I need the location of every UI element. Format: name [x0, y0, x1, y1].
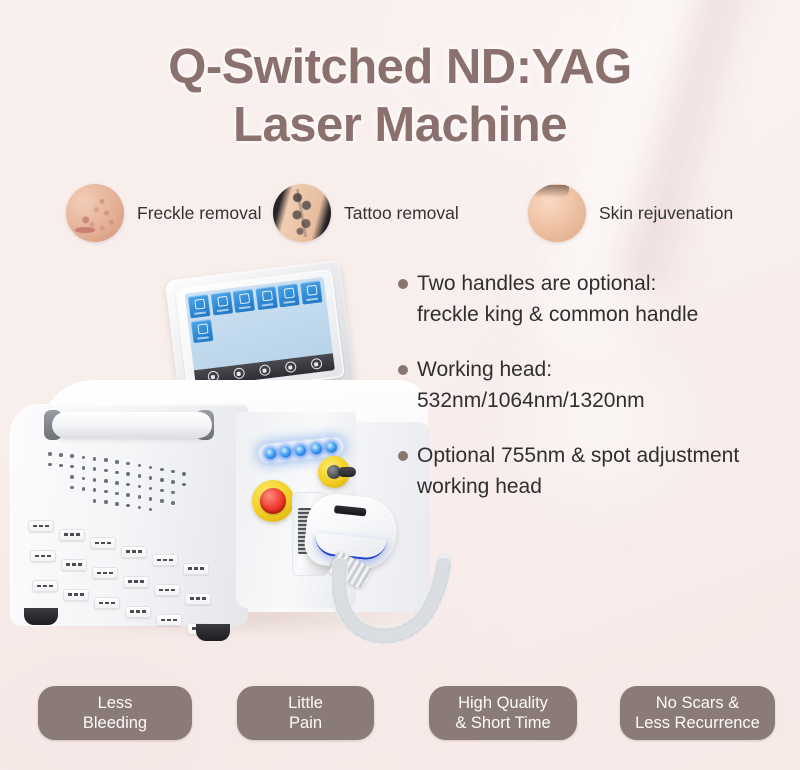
benefit-line-1: Less: [98, 693, 133, 713]
emergency-stop-ring: [252, 480, 294, 522]
application-item-tattoo[interactable]: Tattoo removal: [273, 184, 459, 242]
vent-hole: [93, 488, 97, 492]
vent-hole: [171, 470, 175, 474]
volume-icon[interactable]: [233, 367, 245, 379]
bullet-dot-icon: [398, 365, 408, 375]
application-item-rejuvenation[interactable]: Skin rejuvenation: [528, 184, 733, 242]
vent-slot: [61, 559, 87, 571]
vent-hole: [138, 495, 142, 499]
vent-hole: [115, 502, 119, 506]
vent-hole: [48, 463, 52, 467]
vent-hole: [104, 469, 108, 473]
vent-hole: [126, 483, 130, 487]
machine-foot-left: [24, 608, 58, 625]
vent-hole: [59, 464, 63, 468]
vent-slot: [125, 606, 151, 618]
title-line-2: Laser Machine: [0, 96, 800, 154]
vent-hole: [171, 501, 175, 505]
handpiece-emitter-slot: [334, 505, 367, 516]
vent-hole: [59, 453, 63, 457]
feature-text-working-head: Working head: 532nm/1064nm/1320nm: [417, 354, 798, 416]
vent-hole: [126, 504, 130, 508]
vent-hole: [160, 468, 164, 472]
vent-hole: [104, 479, 108, 483]
vent-hole: [182, 483, 186, 487]
feature-line-2: freckle king & common handle: [417, 299, 798, 330]
application-icon-row: Freckle removal Tattoo removal Skin reju…: [0, 180, 800, 250]
benefit-line-2: Pain: [289, 713, 322, 733]
emergency-stop-button[interactable]: [260, 488, 286, 514]
feature-line-1: Optional 755nm & spot adjustment: [417, 444, 739, 467]
vent-hole: [149, 487, 153, 491]
feature-item-working-head: Working head: 532nm/1064nm/1320nm: [398, 354, 798, 416]
gallery-icon[interactable]: [284, 361, 296, 373]
vent-slot: [63, 589, 89, 601]
benefit-badge-row: Less Bleeding Little Pain High Quality &…: [0, 686, 800, 748]
benefit-line-1: No Scars &: [656, 693, 739, 713]
vent-hole: [149, 497, 153, 501]
application-item-freckle[interactable]: Freckle removal: [66, 184, 261, 242]
vent-hole: [104, 500, 108, 504]
vent-hole: [48, 452, 52, 456]
handpiece-cable: [332, 552, 462, 644]
language-icon[interactable]: [258, 364, 270, 376]
ventilation-dot-pattern: [48, 448, 198, 510]
freckle-removal-photo-icon: [66, 184, 124, 242]
vent-hole: [126, 493, 130, 497]
vent-slot: [94, 597, 120, 609]
title-line-1: Q-Switched ND:YAG: [0, 38, 800, 96]
vent-hole: [160, 499, 164, 503]
feature-text-optional-755nm: Optional 755nm & spot adjustment working…: [417, 440, 798, 502]
vent-hole: [70, 475, 74, 479]
marketing-banner: Q-Switched ND:YAG Laser Machine Freckle …: [0, 0, 800, 770]
screen-app-tile[interactable]: [210, 291, 233, 315]
vent-hole: [70, 454, 74, 458]
vent-slot: [30, 550, 56, 562]
vent-hole: [93, 478, 97, 482]
application-label-rejuvenation: Skin rejuvenation: [599, 203, 733, 224]
vent-slot: [90, 537, 116, 549]
vent-hole: [93, 467, 97, 471]
gear-icon[interactable]: [310, 358, 322, 370]
vent-slot: [32, 580, 58, 592]
vent-hole: [138, 474, 142, 478]
vent-slot: [156, 614, 182, 626]
feature-line-2: 532nm/1064nm/1320nm: [417, 385, 798, 416]
led-light: [325, 441, 337, 453]
carry-handle[interactable]: [52, 412, 212, 438]
ventilation-slot-grid: [28, 520, 220, 616]
application-label-freckle: Freckle removal: [137, 203, 261, 224]
led-light: [280, 446, 292, 458]
vent-hole: [138, 485, 142, 489]
vent-hole: [82, 487, 86, 491]
feature-line-1: Working head:: [417, 358, 552, 381]
vent-hole: [82, 466, 86, 470]
screen-app-tile[interactable]: [255, 286, 278, 310]
benefit-line-1: Little: [288, 693, 323, 713]
screen-app-tile[interactable]: [300, 280, 323, 304]
vent-slot: [121, 546, 147, 558]
vent-slot: [183, 563, 209, 575]
vent-hole: [149, 476, 153, 480]
application-label-tattoo: Tattoo removal: [344, 203, 459, 224]
vent-hole: [149, 466, 153, 470]
vent-hole: [115, 471, 119, 475]
benefit-badge-no-scars[interactable]: No Scars & Less Recurrence: [620, 686, 775, 740]
benefit-badge-less-bleeding[interactable]: Less Bleeding: [38, 686, 192, 740]
feature-item-handles: Two handles are optional: freckle king &…: [398, 268, 798, 330]
vent-hole: [104, 458, 108, 462]
vent-hole: [82, 456, 86, 460]
screen-app-tile[interactable]: [188, 294, 211, 318]
vent-hole: [115, 460, 119, 464]
feature-item-optional-755nm: Optional 755nm & spot adjustment working…: [398, 440, 798, 502]
vent-hole: [104, 490, 108, 494]
machine-foot-front: [196, 624, 230, 641]
vent-hole: [171, 491, 175, 495]
vent-slot: [154, 584, 180, 596]
vent-hole: [160, 478, 164, 482]
feature-line-1: Two handles are optional:: [417, 272, 656, 295]
key-switch[interactable]: [327, 465, 341, 479]
touchscreen-display[interactable]: [185, 277, 335, 387]
vent-slot: [59, 529, 85, 541]
vent-hole: [70, 486, 74, 490]
key-switch-ring: [318, 456, 350, 488]
vent-hole: [82, 477, 86, 481]
led-light: [310, 442, 322, 454]
vent-hole: [126, 462, 130, 466]
page-title: Q-Switched ND:YAG Laser Machine: [0, 38, 800, 154]
vent-hole: [182, 472, 186, 476]
feature-line-2: working head: [417, 471, 798, 502]
screen-app-tile[interactable]: [277, 283, 300, 307]
benefit-line-2: & Short Time: [455, 713, 550, 733]
vent-hole: [70, 465, 74, 469]
led-light: [295, 444, 307, 456]
vent-hole: [171, 480, 175, 484]
benefit-line-1: High Quality: [458, 693, 548, 713]
vent-hole: [138, 464, 142, 468]
benefit-badge-little-pain[interactable]: Little Pain: [237, 686, 374, 740]
vent-hole: [126, 472, 130, 476]
feature-list: Two handles are optional: freckle king &…: [398, 268, 798, 526]
bullet-dot-icon: [398, 451, 408, 461]
vent-slot: [185, 593, 211, 605]
led-light: [265, 447, 277, 459]
vent-hole: [93, 499, 97, 503]
vent-hole: [115, 492, 119, 496]
skin-rejuvenation-photo-icon: [528, 184, 586, 242]
bullet-dot-icon: [398, 279, 408, 289]
vent-hole: [93, 457, 97, 461]
benefit-line-2: Less Recurrence: [635, 713, 760, 733]
benefit-line-2: Bleeding: [83, 713, 147, 733]
tattoo-removal-photo-icon: [273, 184, 331, 242]
vent-slot: [152, 554, 178, 566]
vent-slot: [92, 567, 118, 579]
benefit-badge-high-quality[interactable]: High Quality & Short Time: [429, 686, 577, 740]
feature-text-handles: Two handles are optional: freckle king &…: [417, 268, 798, 330]
vent-slot: [123, 576, 149, 588]
screen-app-tile[interactable]: [233, 289, 256, 313]
vent-slot: [28, 520, 54, 532]
vent-hole: [138, 506, 142, 510]
screen-app-tile[interactable]: [191, 318, 214, 342]
vent-hole: [115, 481, 119, 485]
vent-hole: [160, 489, 164, 493]
